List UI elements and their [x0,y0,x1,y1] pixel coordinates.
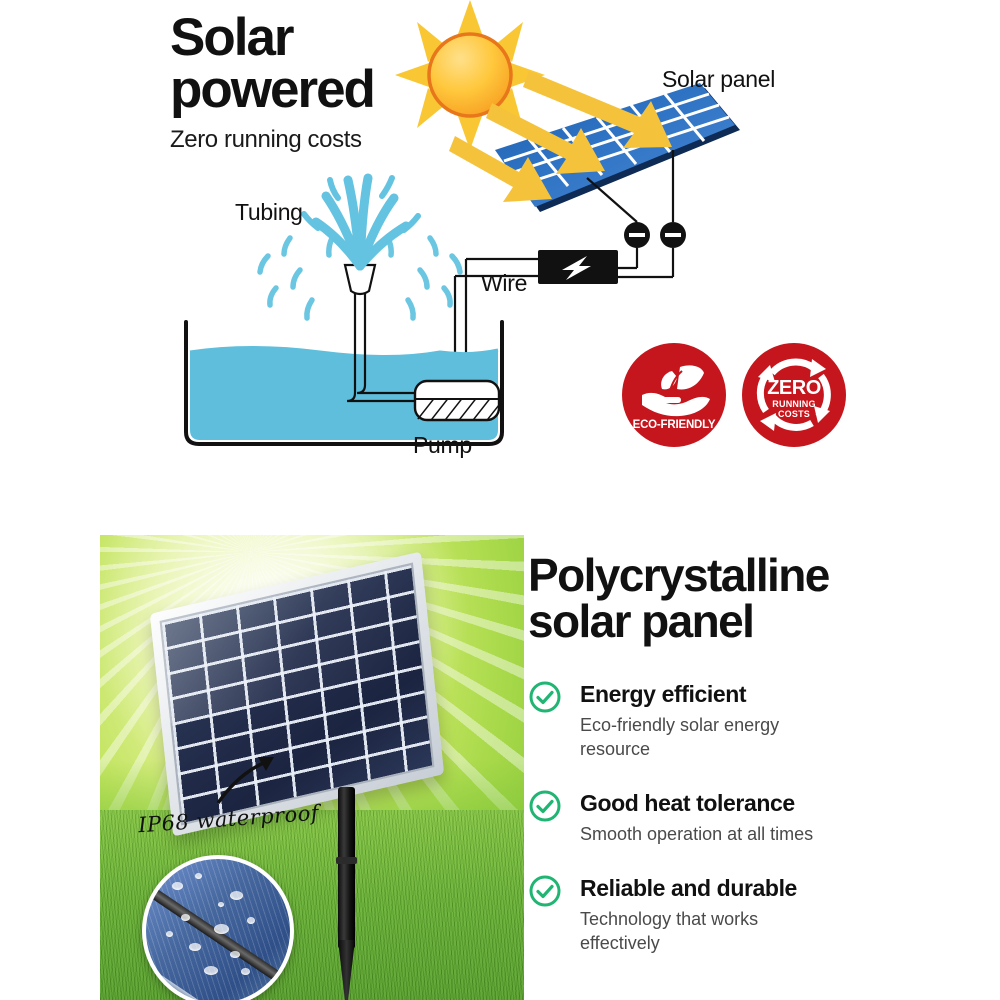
infographic-page: Solar powered Zero running costs [0,0,1000,1000]
badge-zero-line3: COSTS [742,409,846,419]
check-circle-icon [528,680,562,714]
badge-eco-friendly: ECO-FRIENDLY [622,343,726,447]
water-droplet [230,891,243,900]
feature-description: Technology that works effectively [580,908,840,956]
label-tubing: Tubing [235,199,303,226]
solar-powered-section: Solar powered Zero running costs [0,0,1000,500]
wire-connector-box [538,250,618,284]
water-droplet [204,966,218,975]
check-circle-icon [528,874,562,908]
bottom-title-line-2: solar panel [528,598,958,644]
water-droplet [230,951,240,958]
bottom-text-column: Polycrystalline solar panel Energy effic… [528,552,958,985]
check-circle-icon [528,789,562,823]
badge-zero-sublines: RUNNING COSTS [742,399,846,419]
feature-item: Good heat tolerance Smooth operation at … [528,791,958,847]
bottom-title: Polycrystalline solar panel [528,552,958,644]
hand-leaf-icon [622,343,726,447]
feature-description: Eco-friendly solar energy resource [580,714,840,762]
feature-item: Energy efficient Eco-friendly solar ener… [528,682,958,762]
feature-list: Energy efficient Eco-friendly solar ener… [528,682,958,956]
water-droplet [214,924,229,934]
feature-description: Smooth operation at all times [580,823,840,847]
panel-terminals [624,222,686,248]
water-droplet [181,914,190,921]
bottom-title-line-1: Polycrystalline [528,552,958,598]
label-wire: Wire [481,270,527,297]
feature-title: Energy efficient [580,682,958,707]
badge-zero-word: ZERO [742,377,846,400]
pump-graphic [414,381,506,424]
label-pump: Pump [413,432,472,459]
water-droplet [218,902,224,907]
product-photo: IP68 waterproof [100,535,524,1000]
badge-eco-label: ECO-FRIENDLY [622,419,726,431]
water-droplet [247,917,255,924]
badge-zero-line2: RUNNING [742,399,846,409]
photo-mount-pole [338,787,355,949]
water-droplet [172,882,183,890]
photo-pole-ring [336,857,357,864]
water-droplet [166,931,173,937]
polycrystalline-section: IP68 waterproof Polycrystalline [0,500,1000,1000]
solar-fountain-diagram [0,0,1000,500]
water-droplet [189,943,201,951]
water-droplet [241,968,250,975]
label-solar-panel: Solar panel [662,66,775,93]
feature-title: Good heat tolerance [580,791,958,816]
feature-title: Reliable and durable [580,876,958,901]
waterproof-detail-inset [142,855,294,1000]
water-droplet [195,873,202,879]
feature-item: Reliable and durable Technology that wor… [528,876,958,956]
badge-zero-running-costs: ZERO RUNNING COSTS [742,343,846,447]
